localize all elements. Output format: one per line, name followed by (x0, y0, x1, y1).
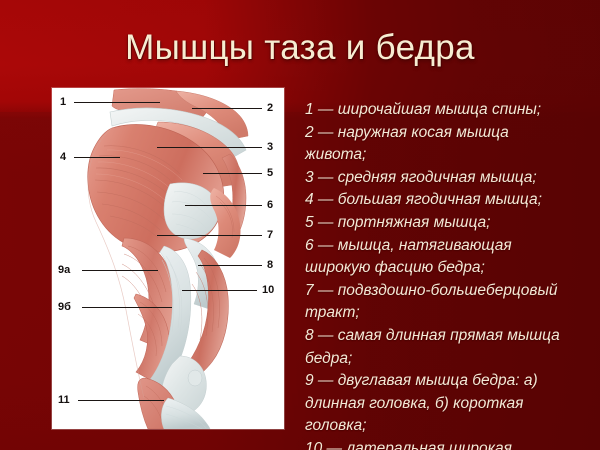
figure-leader-8 (198, 265, 262, 266)
legend-line: тракт; (305, 302, 595, 325)
slide-title: Мышцы таза и бедра (0, 28, 600, 68)
figure-label-5: 5 (267, 168, 273, 179)
figure-leader-7 (157, 235, 262, 236)
figure-label-3: 3 (267, 142, 273, 153)
figure-leader-9b (82, 307, 172, 308)
legend-line: 3 — средняя ягодичная мышца; (305, 167, 595, 190)
figure-leader-10 (182, 290, 257, 291)
figure-label-6: 6 (267, 200, 273, 211)
legend-line: живота; (305, 144, 595, 167)
figure-leader-5 (203, 173, 262, 174)
figure-label-4: 4 (60, 152, 66, 163)
legend-line: 6 — мышца, натягивающая (305, 235, 595, 258)
legend-line: 2 — наружная косая мышца (305, 122, 595, 145)
legend-line: 4 — большая ягодичная мышца; (305, 189, 595, 212)
figure-leader-3 (157, 147, 262, 148)
legend-line: длинная головка, б) короткая (305, 393, 595, 416)
legend-line: бедра; (305, 348, 595, 371)
legend-line: 9 — двуглавая мышца бедра: а) (305, 370, 595, 393)
figure-label-2: 2 (267, 103, 273, 114)
legend-line: широкую фасцию бедра; (305, 257, 595, 280)
figure-label-10: 10 (262, 285, 274, 296)
figure-label-9b: 9б (58, 302, 71, 313)
anatomy-figure-panel: 1 2 3 4 5 6 7 8 10 9а 9б 11 (52, 88, 284, 429)
figure-label-8: 8 (267, 260, 273, 271)
muscle-legend-list: 1 — широчайшая мышца спины; 2 — наружная… (305, 99, 595, 450)
figure-leader-11 (78, 400, 164, 401)
figure-label-7: 7 (267, 230, 273, 241)
figure-label-11: 11 (58, 395, 70, 406)
legend-line: 1 — широчайшая мышца спины; (305, 99, 595, 122)
legend-line: головка; (305, 415, 595, 438)
figure-leader-2 (192, 108, 262, 109)
figure-leader-1 (74, 102, 160, 103)
figure-label-9a: 9а (58, 265, 70, 276)
anatomy-illustration (52, 88, 284, 429)
figure-leader-4 (74, 157, 120, 158)
figure-label-1: 1 (60, 97, 66, 108)
slide-canvas: Мышцы таза и бедра (0, 0, 600, 450)
legend-line: 5 — портняжная мышца; (305, 212, 595, 235)
legend-line: 7 — подвздошно-большеберцовый (305, 280, 595, 303)
legend-line: 10 — латеральная широкая (305, 438, 595, 450)
figure-leader-9a (82, 270, 158, 271)
figure-leader-6 (185, 205, 262, 206)
legend-line: 8 — самая длинная прямая мышца (305, 325, 595, 348)
